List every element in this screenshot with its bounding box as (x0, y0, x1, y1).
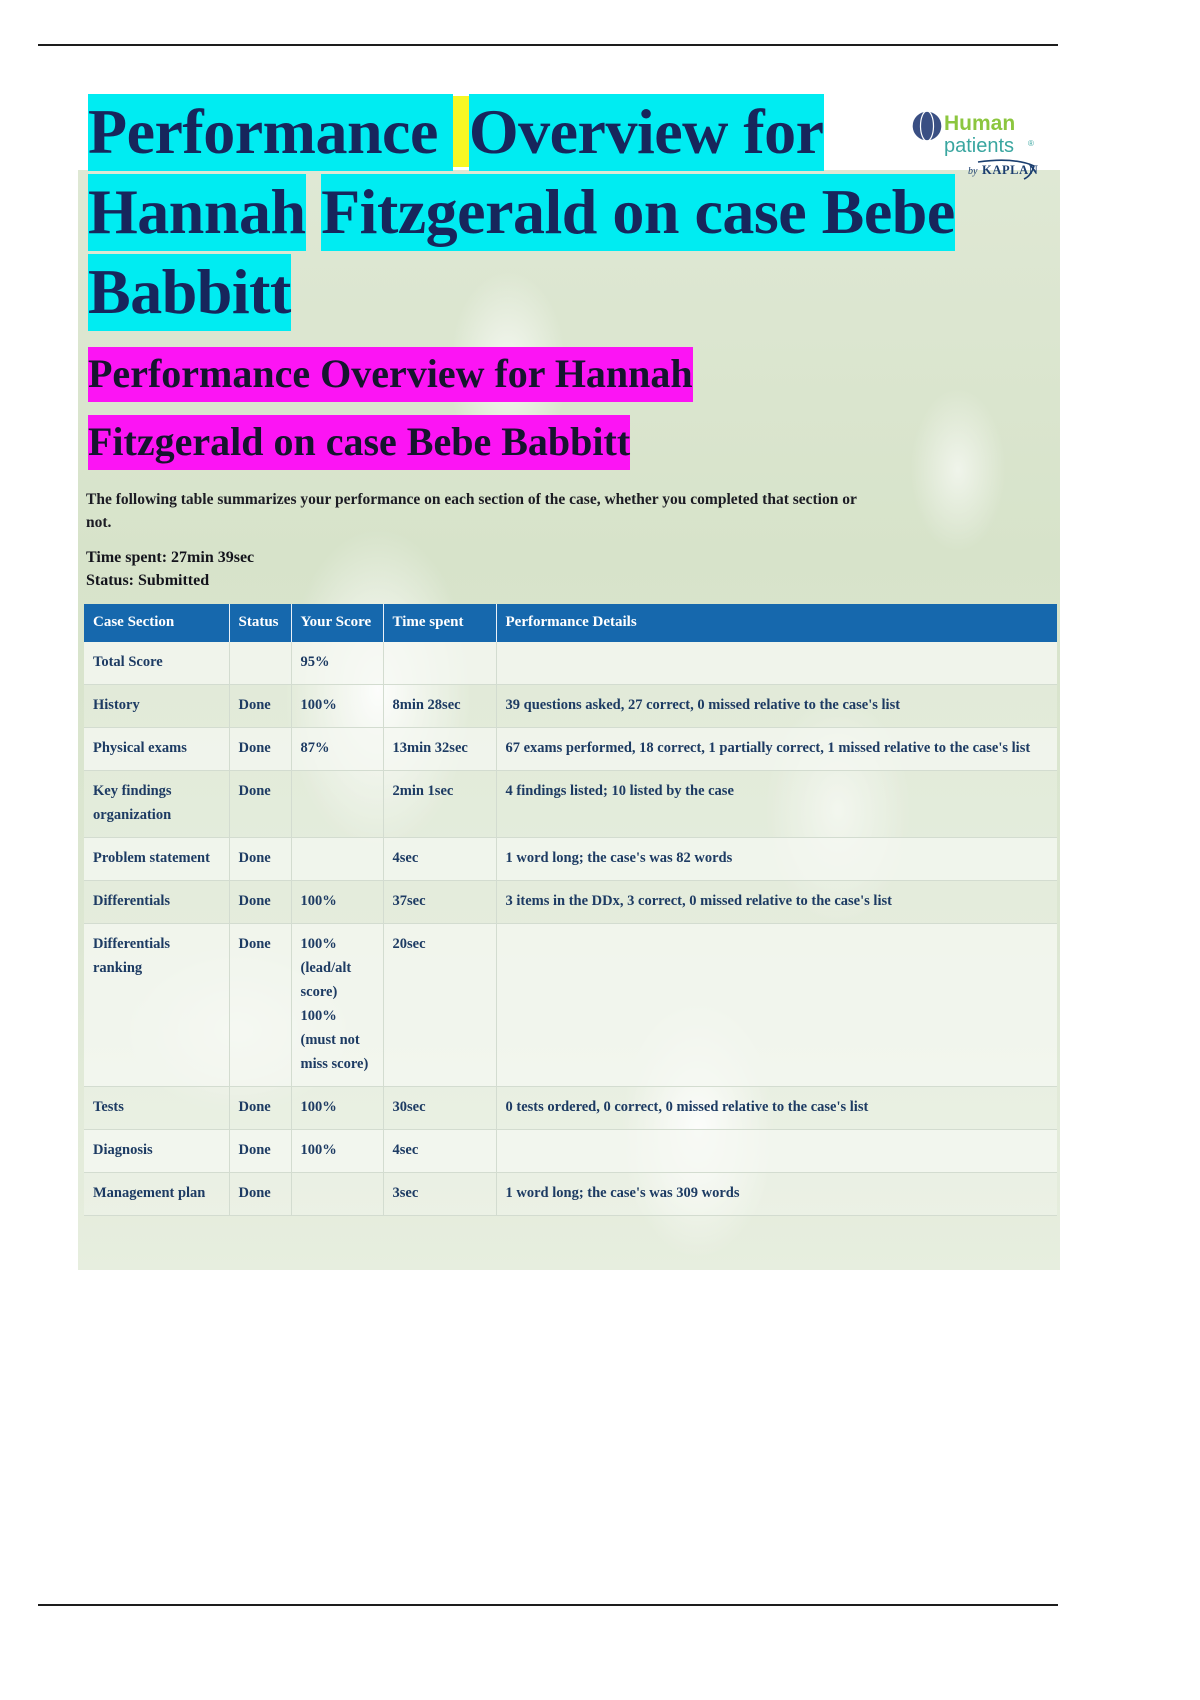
document-page: Performance Overview for Hannah Fitzgera… (0, 0, 1200, 1700)
title-segment-1: Performance (88, 94, 453, 171)
intro-paragraph: The following table summarizes your perf… (86, 488, 876, 534)
page-subtitle: Performance Overview for Hannah Fitzgera… (88, 340, 988, 476)
document-content: Performance Overview for Hannah Fitzgera… (0, 0, 1200, 1700)
cell-your-score: 95% (291, 642, 383, 685)
cell-your-score: 100% (291, 1130, 383, 1173)
cell-your-score (291, 1173, 383, 1216)
cell-time-spent (383, 642, 496, 685)
column-header-performance-details[interactable]: Performance Details (496, 604, 1057, 642)
time-spent-label: Time spent: 27min 39sec (86, 546, 254, 569)
column-header-your-score[interactable]: Your Score (291, 604, 383, 642)
cell-status: Done (229, 838, 291, 881)
logo-svg: Human patients ® by KAPLAN (908, 104, 1048, 190)
title-segment-3: Hannah (88, 174, 306, 251)
cell-time-spent: 2min 1sec (383, 771, 496, 838)
cell-performance-details: 1 word long; the case's was 309 words (496, 1173, 1057, 1216)
cell-performance-details (496, 1130, 1057, 1173)
title-spacer (306, 176, 322, 247)
cell-status: Done (229, 881, 291, 924)
column-header-time-spent[interactable]: Time spent (383, 604, 496, 642)
table-header: Case Section Status Your Score Time spen… (84, 604, 1057, 642)
cell-case-section: Management plan (84, 1173, 229, 1216)
logo-registered-mark: ® (1028, 139, 1034, 148)
human-patients-kaplan-logo: Human patients ® by KAPLAN (908, 104, 1048, 190)
cell-time-spent: 37sec (383, 881, 496, 924)
cell-performance-details (496, 642, 1057, 685)
cell-your-score: 87% (291, 728, 383, 771)
title-segment-5: Babbitt (88, 254, 291, 331)
cell-performance-details: 3 items in the DDx, 3 correct, 0 missed … (496, 881, 1057, 924)
table-row: Management planDone3sec1 word long; the … (84, 1173, 1057, 1216)
table-row: Total Score95% (84, 642, 1057, 685)
cell-your-score: 100% (291, 685, 383, 728)
cell-performance-details (496, 924, 1057, 1087)
cell-time-spent: 4sec (383, 838, 496, 881)
cell-status (229, 642, 291, 685)
cell-your-score (291, 771, 383, 838)
cell-case-section: Differentials ranking (84, 924, 229, 1087)
cell-status: Done (229, 1130, 291, 1173)
cell-status: Done (229, 1173, 291, 1216)
logo-byline-prefix: by (968, 166, 978, 177)
cell-time-spent: 8min 28sec (383, 685, 496, 728)
column-header-status[interactable]: Status (229, 604, 291, 642)
subtitle-segment-2: Fitzgerald on case Bebe Babbitt (88, 415, 630, 470)
table-row: DifferentialsDone100%37sec3 items in the… (84, 881, 1057, 924)
cell-case-section: Diagnosis (84, 1130, 229, 1173)
cell-status: Done (229, 924, 291, 1087)
cell-status: Done (229, 728, 291, 771)
table-body: Total Score95%HistoryDone100%8min 28sec3… (84, 642, 1057, 1216)
title-caret-highlight (453, 96, 469, 167)
cell-case-section: Differentials (84, 881, 229, 924)
table-row: Key findings organizationDone2min 1sec4 … (84, 771, 1057, 838)
status-label: Status: Submitted (86, 569, 254, 592)
table-row: Differentials rankingDone100% (lead/alt … (84, 924, 1057, 1087)
cell-time-spent: 30sec (383, 1087, 496, 1130)
table-row: HistoryDone100%8min 28sec39 questions as… (84, 685, 1057, 728)
cell-case-section: Problem statement (84, 838, 229, 881)
performance-table-wrapper: Case Section Status Your Score Time spen… (84, 604, 1057, 1216)
case-meta: Time spent: 27min 39sec Status: Submitte… (86, 546, 254, 592)
table-row: TestsDone100%30sec0 tests ordered, 0 cor… (84, 1087, 1057, 1130)
table-row: Physical examsDone87%13min 32sec67 exams… (84, 728, 1057, 771)
column-header-case-section[interactable]: Case Section (84, 604, 229, 642)
cell-performance-details: 67 exams performed, 18 correct, 1 partia… (496, 728, 1057, 771)
subtitle-line-2: Fitzgerald on case Bebe Babbitt (88, 408, 988, 476)
logo-word-human: Human (944, 112, 1015, 135)
cell-case-section: Total Score (84, 642, 229, 685)
cell-your-score: 100% (291, 881, 383, 924)
cell-case-section: Physical exams (84, 728, 229, 771)
cell-your-score: 100% (291, 1087, 383, 1130)
cell-your-score (291, 838, 383, 881)
title-line-3: Babbitt (88, 252, 1088, 332)
table-row: DiagnosisDone100%4sec (84, 1130, 1057, 1173)
table-row: Problem statementDone4sec1 word long; th… (84, 838, 1057, 881)
cell-your-score: 100% (lead/alt score) 100% (must not mis… (291, 924, 383, 1087)
cell-performance-details: 0 tests ordered, 0 correct, 0 missed rel… (496, 1087, 1057, 1130)
cell-performance-details: 39 questions asked, 27 correct, 0 missed… (496, 685, 1057, 728)
cell-case-section: History (84, 685, 229, 728)
cell-status: Done (229, 685, 291, 728)
performance-table: Case Section Status Your Score Time spen… (84, 604, 1057, 1216)
logo-word-patients: patients (944, 135, 1014, 157)
cell-status: Done (229, 1087, 291, 1130)
cell-case-section: Key findings organization (84, 771, 229, 838)
subtitle-segment-1: Performance Overview for Hannah (88, 347, 693, 402)
cell-time-spent: 4sec (383, 1130, 496, 1173)
subtitle-line-1: Performance Overview for Hannah (88, 340, 988, 408)
cell-time-spent: 3sec (383, 1173, 496, 1216)
cell-time-spent: 13min 32sec (383, 728, 496, 771)
cell-case-section: Tests (84, 1087, 229, 1130)
cell-time-spent: 20sec (383, 924, 496, 1087)
cell-status: Done (229, 771, 291, 838)
title-segment-4: Fitzgerald on case Bebe (321, 174, 955, 251)
table-header-row: Case Section Status Your Score Time spen… (84, 604, 1057, 642)
title-segment-2: Overview for (469, 94, 824, 171)
cell-performance-details: 1 word long; the case's was 82 words (496, 838, 1057, 881)
cell-performance-details: 4 findings listed; 10 listed by the case (496, 771, 1057, 838)
